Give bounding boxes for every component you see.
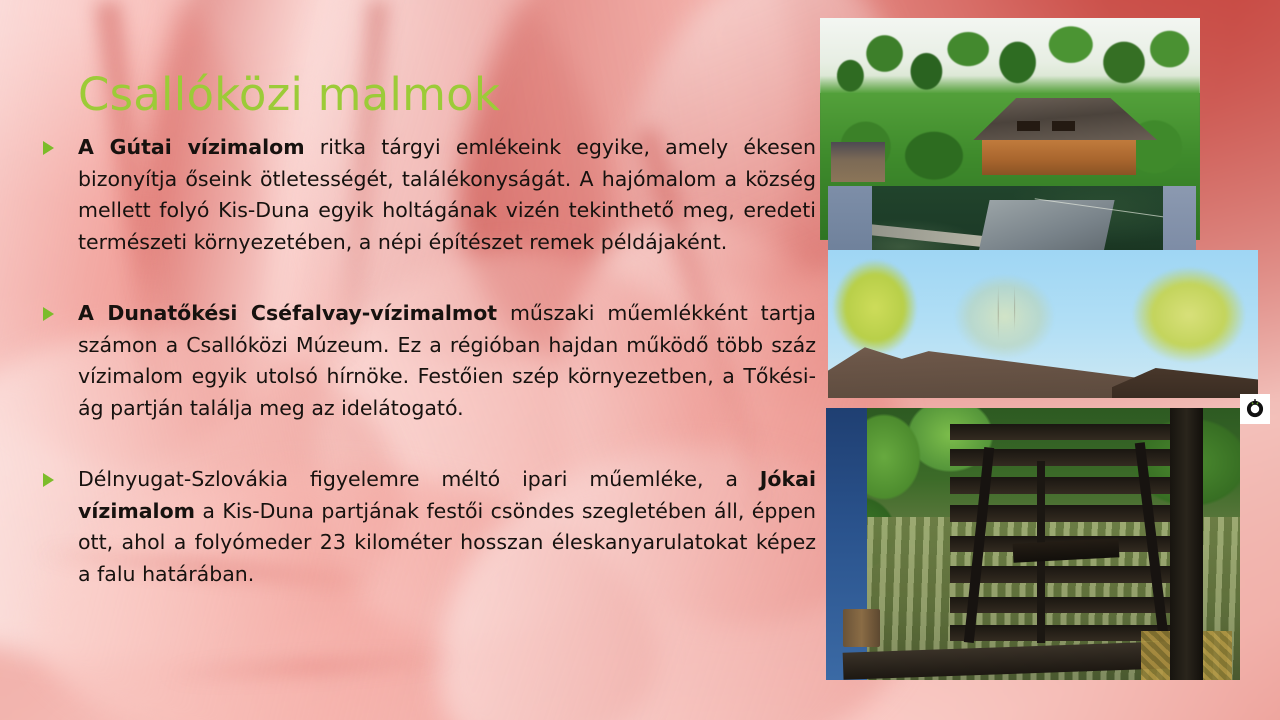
photo-outbuilding <box>831 142 884 182</box>
paragraph-lead-plain: Délnyugat-Szlovákia figyelemre méltó ipa… <box>78 467 760 491</box>
photo-tree <box>1116 253 1258 377</box>
photo-barrel <box>843 609 880 647</box>
triangle-bullet-icon <box>43 307 54 321</box>
triangle-bullet-icon <box>43 141 54 155</box>
paragraph-lead-bold: A Dunatőkési Cséfalvay-vízimalmot <box>78 301 497 325</box>
bullet-paragraph: A Dunatőkési Cséfalvay-vízimalmot műszak… <box>34 298 816 424</box>
circular-watermark-logo <box>1240 394 1270 424</box>
paragraph-text: Délnyugat-Szlovákia figyelemre méltó ipa… <box>78 464 816 590</box>
page-title: Csallóközi malmok <box>78 68 500 121</box>
bullet-paragraph: A Gútai vízimalom ritka tárgyi emlékeink… <box>34 132 816 258</box>
paragraph-text: A Gútai vízimalom ritka tárgyi emlékeink… <box>78 132 816 258</box>
photo-window <box>1052 121 1075 132</box>
slide-body: A Gútai vízimalom ritka tárgyi emlékeink… <box>34 132 816 590</box>
paragraph-lead-bold: A Gútai vízimalom <box>78 135 305 159</box>
paragraph-text: A Dunatőkési Cséfalvay-vízimalmot műszak… <box>78 298 816 424</box>
photo-water-wheel <box>950 419 1190 653</box>
jokai-vizimalom-photo[interactable] <box>826 408 1240 680</box>
photo-dark-post <box>1170 408 1203 680</box>
bullet-paragraph: Délnyugat-Szlovákia figyelemre méltó ipa… <box>34 464 816 590</box>
presentation-slide: Csallóközi malmok A Gútai vízimalom ritk… <box>0 0 1280 720</box>
triangle-bullet-icon <box>43 473 54 487</box>
photo-wheel-paddle <box>950 424 1190 440</box>
photo-branches <box>957 271 1060 354</box>
photo-mill-wall <box>982 136 1136 175</box>
csefalvay-malom-photo[interactable] <box>828 250 1258 398</box>
photo-window <box>1017 121 1040 132</box>
photo-mill-roof <box>962 98 1158 140</box>
photo-mill-house <box>972 98 1147 173</box>
